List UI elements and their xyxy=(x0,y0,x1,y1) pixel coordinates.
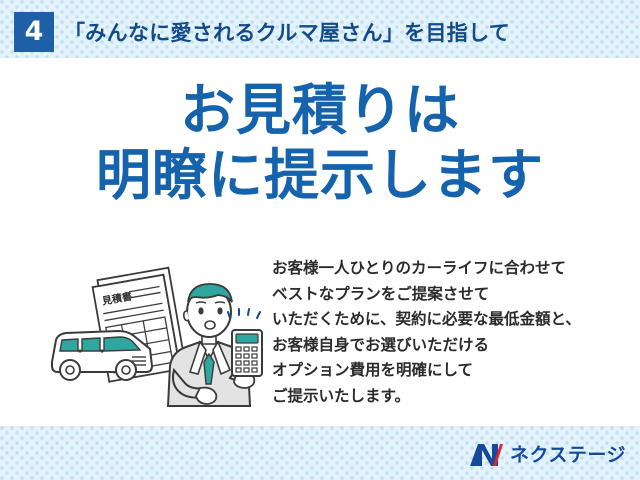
brand-logo: ネクステージ xyxy=(469,440,626,470)
body-copy-line: いただくために、契約に必要な最低金額と、 xyxy=(272,307,636,333)
body-copy-block: お客様一人ひとりのカーライフに合わせて ベストなプランをご提案させて いただくた… xyxy=(272,256,636,409)
body-copy-line: お客様一人ひとりのカーライフに合わせて xyxy=(272,256,636,282)
calculator-icon xyxy=(228,309,262,376)
van-icon xyxy=(52,331,152,380)
illustration: 見積書 xyxy=(40,254,270,414)
section-number-badge: 4 xyxy=(14,12,54,52)
promo-slide: 4 「みんなに愛されるクルマ屋さん」を目指して お見積りは 明瞭に提示します お… xyxy=(0,0,640,480)
content-area: お見積りは 明瞭に提示します お客様一人ひとりのカーライフに合わせて ベストなプ… xyxy=(0,58,640,426)
nextage-n-mark-icon xyxy=(469,443,503,467)
body-copy-line: ご提示いたします。 xyxy=(272,384,636,410)
headline-block: お見積りは 明瞭に提示します xyxy=(0,78,640,208)
body-copy-line: ベストなプランをご提案させて xyxy=(272,282,636,308)
headline-line-1: お見積りは xyxy=(0,78,640,142)
brand-wordmark: ネクステージ xyxy=(510,443,626,467)
body-copy-line: オプション費用を明確にして xyxy=(272,358,636,384)
sparkle-icon xyxy=(228,309,260,318)
section-heading: 「みんなに愛されるクルマ屋さん」を目指して xyxy=(64,16,510,50)
headline-line-2: 明瞭に提示します xyxy=(0,142,640,208)
body-copy-line: お客様自身でお選びいただける xyxy=(272,333,636,359)
